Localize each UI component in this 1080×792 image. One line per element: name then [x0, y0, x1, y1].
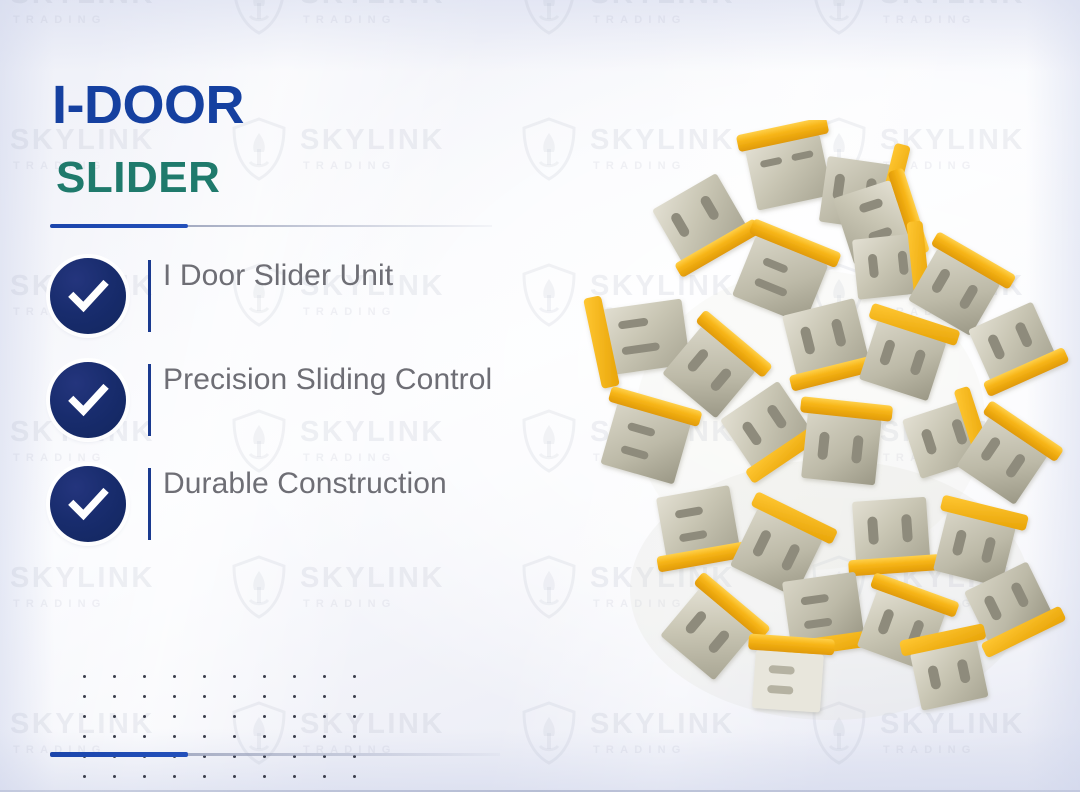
dot — [353, 675, 356, 678]
dot — [293, 695, 296, 698]
dot — [293, 775, 296, 778]
dot — [113, 775, 116, 778]
dot — [173, 675, 176, 678]
dot — [83, 695, 86, 698]
dot — [113, 675, 116, 678]
dot — [203, 715, 206, 718]
bottom-accent-segment — [50, 752, 188, 757]
dot — [353, 715, 356, 718]
product-banner: SKYLINKTRADINGSKYLINKTRADINGSKYLINKTRADI… — [0, 0, 1080, 792]
feature-accent-bar — [148, 260, 151, 332]
dot — [323, 715, 326, 718]
content-panel: I-DOOR SLIDER I Door Slider UnitPrecisio… — [0, 0, 560, 792]
watermark-tagline: TRADING — [883, 15, 1025, 26]
dot — [173, 775, 176, 778]
dot — [83, 715, 86, 718]
dot — [233, 695, 236, 698]
watermark: SKYLINKTRADING — [810, 0, 1025, 36]
check-icon — [50, 466, 126, 542]
dot — [263, 735, 266, 738]
dot — [83, 675, 86, 678]
dot — [203, 775, 206, 778]
watermark-tagline: TRADING — [593, 745, 735, 756]
watermark-tagline: TRADING — [883, 745, 1025, 756]
watermark-tagline: TRADING — [593, 15, 735, 26]
feature-list: I Door Slider UnitPrecision Sliding Cont… — [50, 258, 540, 570]
feature-label: Precision Sliding Control — [163, 362, 492, 399]
dot — [323, 675, 326, 678]
divider-tail-segment — [188, 225, 492, 227]
dot — [113, 695, 116, 698]
dot — [323, 695, 326, 698]
feature-item: I Door Slider Unit — [50, 258, 540, 334]
dot — [143, 735, 146, 738]
dot — [323, 735, 326, 738]
bottom-divider — [50, 752, 500, 757]
dot — [203, 675, 206, 678]
feature-item: Durable Construction — [50, 466, 540, 542]
dot — [203, 695, 206, 698]
dot-grid-decoration — [56, 658, 383, 792]
dot — [233, 675, 236, 678]
shield-icon — [810, 0, 868, 36]
dot — [323, 775, 326, 778]
dot — [293, 675, 296, 678]
dot — [263, 775, 266, 778]
watermark-text: SKYLINKTRADING — [880, 0, 1025, 26]
feature-item: Precision Sliding Control — [50, 362, 540, 438]
page-subtitle: SLIDER — [56, 156, 220, 200]
dot — [143, 775, 146, 778]
dot — [203, 735, 206, 738]
dot — [143, 695, 146, 698]
feature-label: Durable Construction — [163, 466, 447, 503]
dot — [233, 715, 236, 718]
dot — [263, 695, 266, 698]
watermark-brand: SKYLINK — [880, 0, 1025, 9]
bottom-tail-segment — [188, 753, 500, 756]
dot — [173, 735, 176, 738]
watermark-brand: SKYLINK — [590, 0, 735, 9]
dot — [353, 775, 356, 778]
dot — [263, 715, 266, 718]
dot — [113, 715, 116, 718]
dot — [143, 675, 146, 678]
dot — [173, 715, 176, 718]
watermark-text: SKYLINKTRADING — [590, 0, 735, 26]
product-illustration — [560, 120, 1080, 720]
dot — [233, 735, 236, 738]
feature-label: I Door Slider Unit — [163, 258, 393, 295]
check-icon — [50, 258, 126, 334]
product-image — [560, 120, 1080, 720]
dot — [263, 675, 266, 678]
feature-accent-bar — [148, 468, 151, 540]
dot — [113, 735, 116, 738]
dot — [233, 775, 236, 778]
feature-accent-bar — [148, 364, 151, 436]
dot — [293, 715, 296, 718]
dot-grid-table — [56, 658, 383, 792]
dot — [293, 735, 296, 738]
dot — [143, 715, 146, 718]
dot — [353, 735, 356, 738]
dot — [83, 775, 86, 778]
dot — [173, 695, 176, 698]
title-divider — [50, 224, 492, 228]
page-title: I-DOOR — [52, 78, 244, 132]
check-icon — [50, 362, 126, 438]
dot — [83, 735, 86, 738]
divider-accent-segment — [50, 224, 188, 228]
dot — [353, 695, 356, 698]
